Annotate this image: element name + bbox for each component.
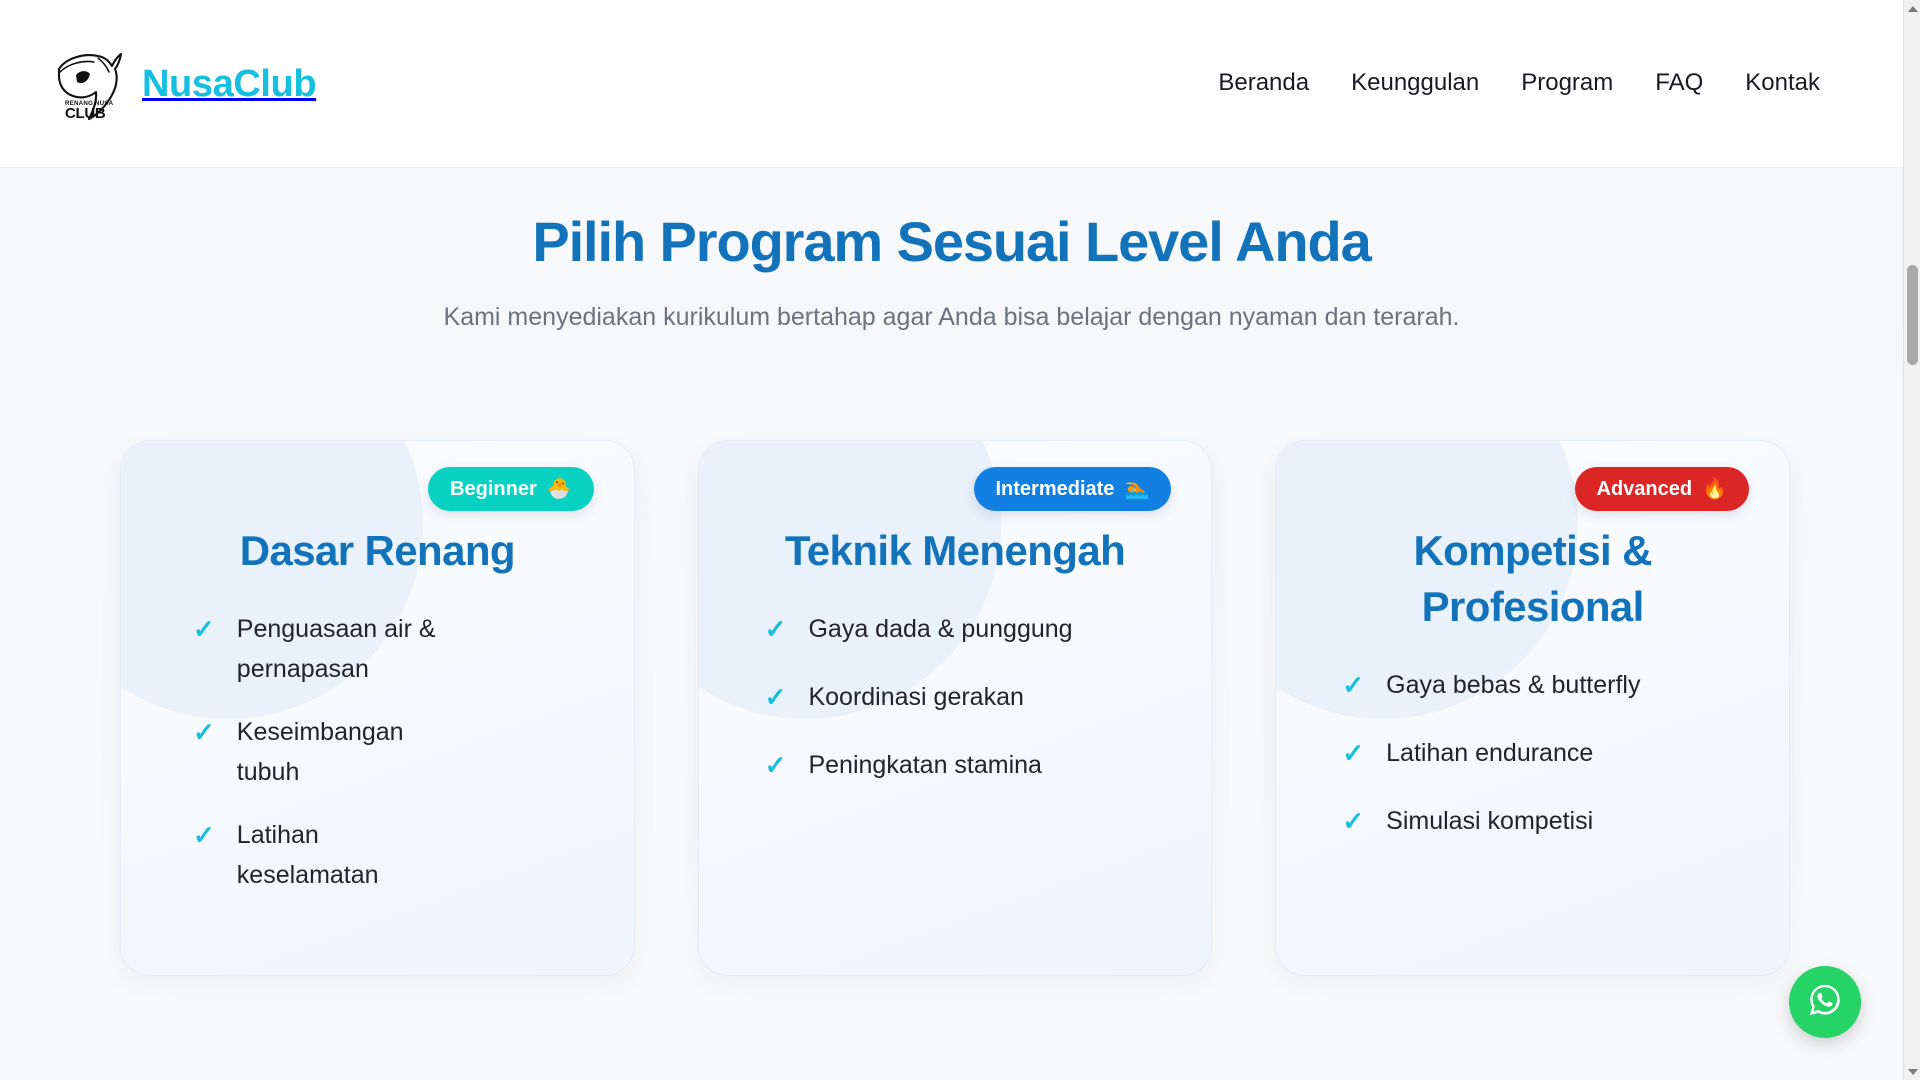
feature-list-item: ✓ Koordinasi gerakan [765, 677, 1168, 718]
feature-list-item: ✓ Gaya bebas & butterfly [1342, 665, 1745, 706]
page-subtitle: Kami menyediakan kurikulum bertahap agar… [0, 300, 1903, 335]
check-icon: ✓ [1342, 733, 1364, 774]
feature-list-item: ✓ Gaya dada & punggung [765, 609, 1168, 650]
check-icon: ✓ [765, 677, 787, 718]
card-title: Dasar Renang [157, 523, 598, 579]
nav-item-kontak[interactable]: Kontak [1724, 61, 1841, 106]
check-icon: ✓ [1342, 801, 1364, 842]
feature-text: Keseimbangan tubuh [237, 712, 467, 793]
dolphin-logo-icon: RENANG NUSA CLUB [54, 45, 124, 123]
feature-text: Simulasi kompetisi [1386, 801, 1593, 842]
feature-list: ✓ Gaya dada & punggung ✓ Koordinasi gera… [735, 609, 1176, 786]
section-header: Pilih Program Sesuai Level Anda Kami men… [0, 168, 1903, 335]
feature-list-item: ✓ Penguasaan air & pernapasan [193, 609, 590, 690]
badge-label: Intermediate [996, 478, 1115, 500]
badge-label: Advanced [1597, 478, 1693, 500]
feature-text: Gaya dada & punggung [808, 609, 1072, 650]
brand-name: NusaClub [142, 65, 316, 103]
nav-item-beranda[interactable]: Beranda [1197, 61, 1330, 106]
scroll-down-arrow-icon[interactable] [1904, 1063, 1920, 1080]
nav-item-program[interactable]: Program [1500, 61, 1634, 106]
check-icon: ✓ [193, 815, 215, 856]
card-title: Kompetisi & Profesional [1312, 523, 1753, 635]
scrollbar-thumb[interactable] [1907, 265, 1918, 365]
feature-text: Penguasaan air & pernapasan [237, 609, 467, 690]
check-icon: ✓ [1342, 665, 1364, 706]
feature-list-item: ✓ Peningkatan stamina [765, 745, 1168, 786]
whatsapp-icon [1804, 979, 1846, 1026]
whatsapp-chat-button[interactable] [1789, 966, 1861, 1038]
program-card-advanced[interactable]: Advanced 🔥 Kompetisi & Profesional ✓ Gay… [1275, 440, 1790, 976]
page-title: Pilih Program Sesuai Level Anda [0, 211, 1903, 274]
nav-item-keunggulan[interactable]: Keunggulan [1330, 61, 1500, 106]
level-badge-advanced[interactable]: Advanced 🔥 [1575, 467, 1750, 511]
check-icon: ✓ [765, 745, 787, 786]
check-icon: ✓ [193, 712, 215, 753]
feature-text: Koordinasi gerakan [808, 677, 1023, 718]
page-viewport: RENANG NUSA CLUB NusaClub Beranda Keungg… [0, 0, 1903, 1080]
program-card-intermediate[interactable]: Intermediate 🏊 Teknik Menengah ✓ Gaya da… [698, 440, 1213, 976]
feature-text: Latihan keselamatan [237, 815, 467, 896]
feature-list-item: ✓ Latihan endurance [1342, 733, 1745, 774]
nav-item-faq[interactable]: FAQ [1634, 61, 1724, 106]
feature-list: ✓ Penguasaan air & pernapasan ✓ Keseimba… [157, 609, 598, 896]
program-cards-grid: Beginner 🐣 Dasar Renang ✓ Penguasaan air… [120, 440, 1790, 976]
feature-list-item: ✓ Keseimbangan tubuh [193, 712, 590, 793]
feature-list-item: ✓ Latihan keselamatan [193, 815, 590, 896]
vertical-scrollbar[interactable] [1903, 0, 1920, 1080]
badge-label: Beginner [450, 478, 537, 500]
site-header: RENANG NUSA CLUB NusaClub Beranda Keungg… [0, 0, 1903, 168]
main-navigation: Beranda Keunggulan Program FAQ Kontak [1197, 61, 1841, 106]
feature-text: Latihan endurance [1386, 733, 1593, 774]
scroll-up-arrow-icon[interactable] [1904, 0, 1920, 17]
level-badge-intermediate[interactable]: Intermediate 🏊 [974, 467, 1172, 511]
level-badge-beginner[interactable]: Beginner 🐣 [428, 467, 594, 511]
hatching-chick-icon: 🐣 [547, 479, 572, 499]
feature-list: ✓ Gaya bebas & butterfly ✓ Latihan endur… [1312, 665, 1753, 842]
feature-text: Peningkatan stamina [808, 745, 1041, 786]
check-icon: ✓ [193, 609, 215, 650]
fire-icon: 🔥 [1702, 479, 1727, 499]
logo-text-bottom: CLUB [65, 105, 106, 122]
swimmer-icon: 🏊 [1124, 479, 1149, 499]
program-card-beginner[interactable]: Beginner 🐣 Dasar Renang ✓ Penguasaan air… [120, 440, 635, 976]
feature-text: Gaya bebas & butterfly [1386, 665, 1640, 706]
brand-logo-link[interactable]: RENANG NUSA CLUB NusaClub [54, 45, 316, 123]
feature-list-item: ✓ Simulasi kompetisi [1342, 801, 1745, 842]
card-title: Teknik Menengah [735, 523, 1176, 579]
check-icon: ✓ [765, 609, 787, 650]
